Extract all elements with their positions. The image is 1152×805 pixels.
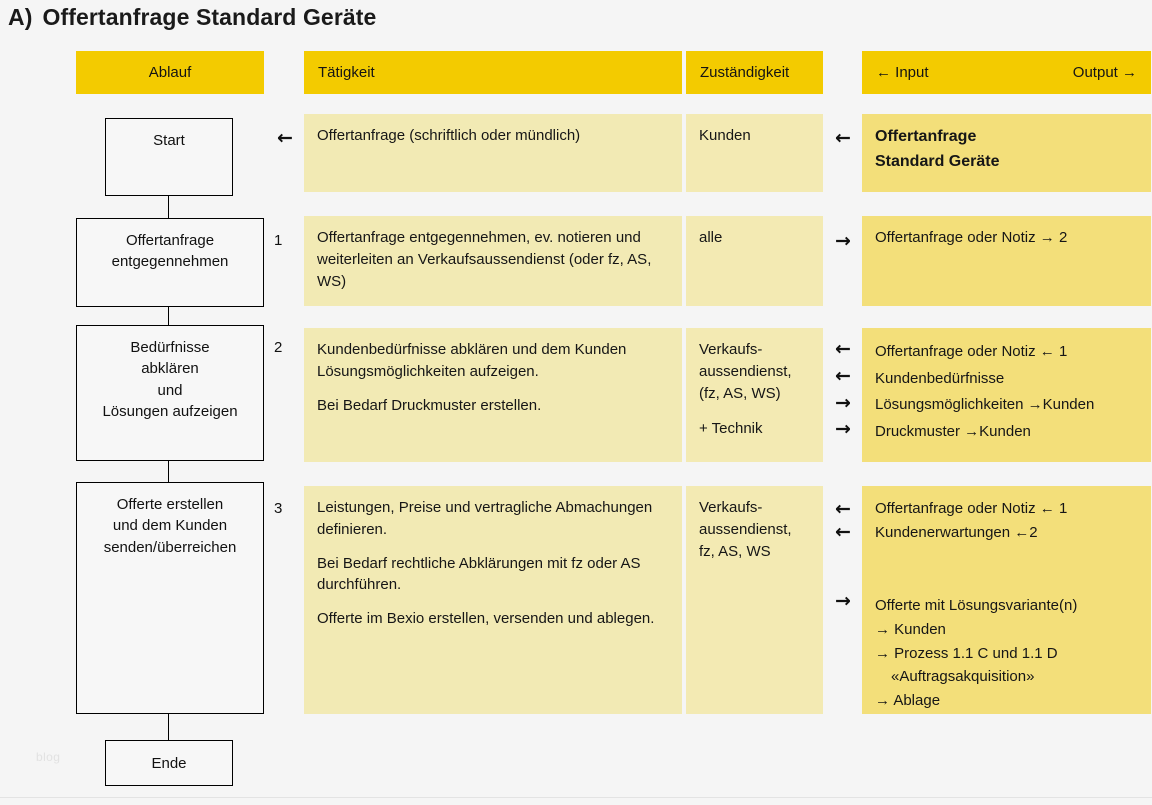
io-line: Offertanfrage oder Notiz ← 1 — [875, 497, 1138, 521]
zustaendigkeit-text-row-1: alle — [699, 227, 810, 249]
zustaendigkeit-cell-row-3: Verkaufs- aussendienst, fz, AS, WS — [686, 486, 823, 714]
zustaendigkeit-cell-row-1: alle — [686, 216, 823, 306]
io-line: «Auftragsakquisition» — [875, 665, 1138, 689]
connector-1-to-2 — [168, 307, 169, 325]
taetigkeit-text-row-3c: Offerte im Bexio erstellen, versenden un… — [317, 608, 669, 630]
io-line: → Kunden — [875, 618, 1138, 642]
io-line: Lösungsmöglichkeiten →Kunden — [875, 392, 1138, 419]
step-number-2: 2 — [274, 339, 292, 356]
bottom-divider — [0, 797, 1152, 798]
connector-start-to-1 — [168, 196, 169, 218]
column-header-ablauf-label: Ablauf — [149, 64, 192, 81]
zustaendigkeit-cell-row-2: Verkaufs- aussendienst, (fz, AS, WS) + T… — [686, 328, 823, 462]
column-header-input-output: ← Input Output → — [862, 51, 1151, 94]
column-header-taetigkeit-label: Tätigkeit — [304, 64, 375, 81]
taetigkeit-text-row-2: Kundenbedürfnisse abklären und dem Kunde… — [317, 339, 669, 383]
flow-box-step-2[interactable]: BedürfnisseabklärenundLösungen aufzeigen — [76, 325, 264, 461]
zustaendigkeit-line: Verkaufs- — [699, 339, 810, 361]
zustaendigkeit-cell-row-start: Kunden — [686, 114, 823, 192]
input-output-cell-row-2: Offertanfrage oder Notiz ← 1 Kundenbedür… — [862, 328, 1151, 462]
column-header-zustaendigkeit-label: Zuständigkeit — [686, 64, 789, 81]
input-output-cell-row-1: Offertanfrage oder Notiz → 2 — [862, 216, 1151, 306]
zustaendigkeit-line: (fz, AS, WS) — [699, 383, 810, 405]
io-line: → Ablage — [875, 689, 1138, 713]
zustaendigkeit-line: Verkaufs- — [699, 497, 810, 519]
page-title-label: A) — [8, 4, 32, 31]
arrow-right-icon-io-row-1: → — [830, 232, 856, 251]
arrow-right-icon-io-row-2-d: → — [830, 420, 856, 439]
taetigkeit-cell-row-1: Offertanfrage entgegennehmen, ev. notier… — [304, 216, 682, 306]
input-output-cell-row-3: Offertanfrage oder Notiz ← 1 Kundenerwar… — [862, 486, 1151, 714]
arrow-left-icon-io-row-3-b: ← — [830, 523, 856, 542]
flow-box-step-2-label: BedürfnisseabklärenundLösungen aufzeigen — [102, 337, 237, 460]
zustaendigkeit-line: fz, AS, WS — [699, 541, 810, 563]
taetigkeit-text-row-3: Leistungen, Preise und vertragliche Abma… — [317, 497, 669, 541]
input-arrow-label: ← Input — [876, 64, 929, 81]
io-line: Offertanfrage oder Notiz → 2 — [875, 227, 1138, 249]
flow-box-end-label: Ende — [151, 753, 186, 785]
flow-box-step-1-label: Offertanfrageentgegennehmen — [112, 230, 229, 306]
io-line: Druckmuster →Kunden — [875, 419, 1138, 446]
taetigkeit-cell-row-2: Kundenbedürfnisse abklären und dem Kunde… — [304, 328, 682, 462]
step-number-1: 1 — [274, 232, 292, 249]
arrow-left-icon-row-start: ← — [272, 129, 298, 148]
flow-box-start-label: Start — [153, 130, 185, 195]
input-output-cell-row-start: Offertanfrage Standard Geräte — [862, 114, 1151, 192]
column-header-ablauf: Ablauf — [76, 51, 264, 94]
connector-2-to-3 — [168, 461, 169, 482]
arrow-right-icon-io-row-3-c: → — [830, 592, 856, 611]
arrow-left-icon-io-row-3-a: ← — [830, 500, 856, 519]
io-line: Standard Geräte — [875, 150, 1138, 175]
arrow-left-icon-io-row-2-b: ← — [830, 367, 856, 386]
flow-box-end[interactable]: Ende — [105, 740, 233, 786]
output-arrow-label: Output → — [1073, 64, 1137, 81]
flow-box-step-3-label: Offerte erstellenund dem Kundensenden/üb… — [104, 494, 237, 713]
arrow-left-icon-io-row-2-a: ← — [830, 340, 856, 359]
taetigkeit-text-row-start: Offertanfrage (schriftlich oder mündlich… — [317, 125, 669, 147]
arrow-left-icon-io-row-start: ← — [830, 129, 856, 148]
flow-box-start[interactable]: Start — [105, 118, 233, 196]
page-title-text: Offertanfrage Standard Geräte — [42, 4, 376, 31]
io-line: Kundenbedürfnisse — [875, 366, 1138, 393]
io-line: Offerte mit Lösungsvariante(n) — [875, 594, 1138, 618]
process-diagram-page: A) Offertanfrage Standard Geräte Ablauf … — [0, 0, 1152, 805]
connector-3-to-end — [168, 714, 169, 740]
taetigkeit-text-row-2b: Bei Bedarf Druckmuster erstellen. — [317, 395, 669, 417]
taetigkeit-text-row-1: Offertanfrage entgegennehmen, ev. notier… — [317, 227, 669, 292]
taetigkeit-text-row-3b: Bei Bedarf rechtliche Abklärungen mit fz… — [317, 553, 669, 597]
flow-box-step-1[interactable]: Offertanfrageentgegennehmen — [76, 218, 264, 307]
io-line: Kundenerwartungen ←2 — [875, 521, 1138, 545]
column-header-taetigkeit: Tätigkeit — [304, 51, 682, 94]
arrow-right-icon-io-row-2-c: → — [830, 394, 856, 413]
zustaendigkeit-line: + Technik — [699, 418, 810, 440]
flow-box-step-3[interactable]: Offerte erstellenund dem Kundensenden/üb… — [76, 482, 264, 714]
column-header-zustaendigkeit: Zuständigkeit — [686, 51, 823, 94]
watermark: blog — [36, 750, 60, 764]
step-number-3: 3 — [274, 500, 292, 517]
taetigkeit-cell-row-3: Leistungen, Preise und vertragliche Abma… — [304, 486, 682, 714]
io-line: Offertanfrage — [875, 125, 1138, 150]
io-line: → Prozess 1.1 C und 1.1 D — [875, 642, 1138, 666]
zustaendigkeit-line: aussendienst, — [699, 361, 810, 383]
io-line: Offertanfrage oder Notiz ← 1 — [875, 339, 1138, 366]
taetigkeit-cell-row-start: Offertanfrage (schriftlich oder mündlich… — [304, 114, 682, 192]
zustaendigkeit-line: aussendienst, — [699, 519, 810, 541]
page-title: A) Offertanfrage Standard Geräte — [8, 4, 376, 31]
zustaendigkeit-text-row-start: Kunden — [699, 125, 810, 147]
